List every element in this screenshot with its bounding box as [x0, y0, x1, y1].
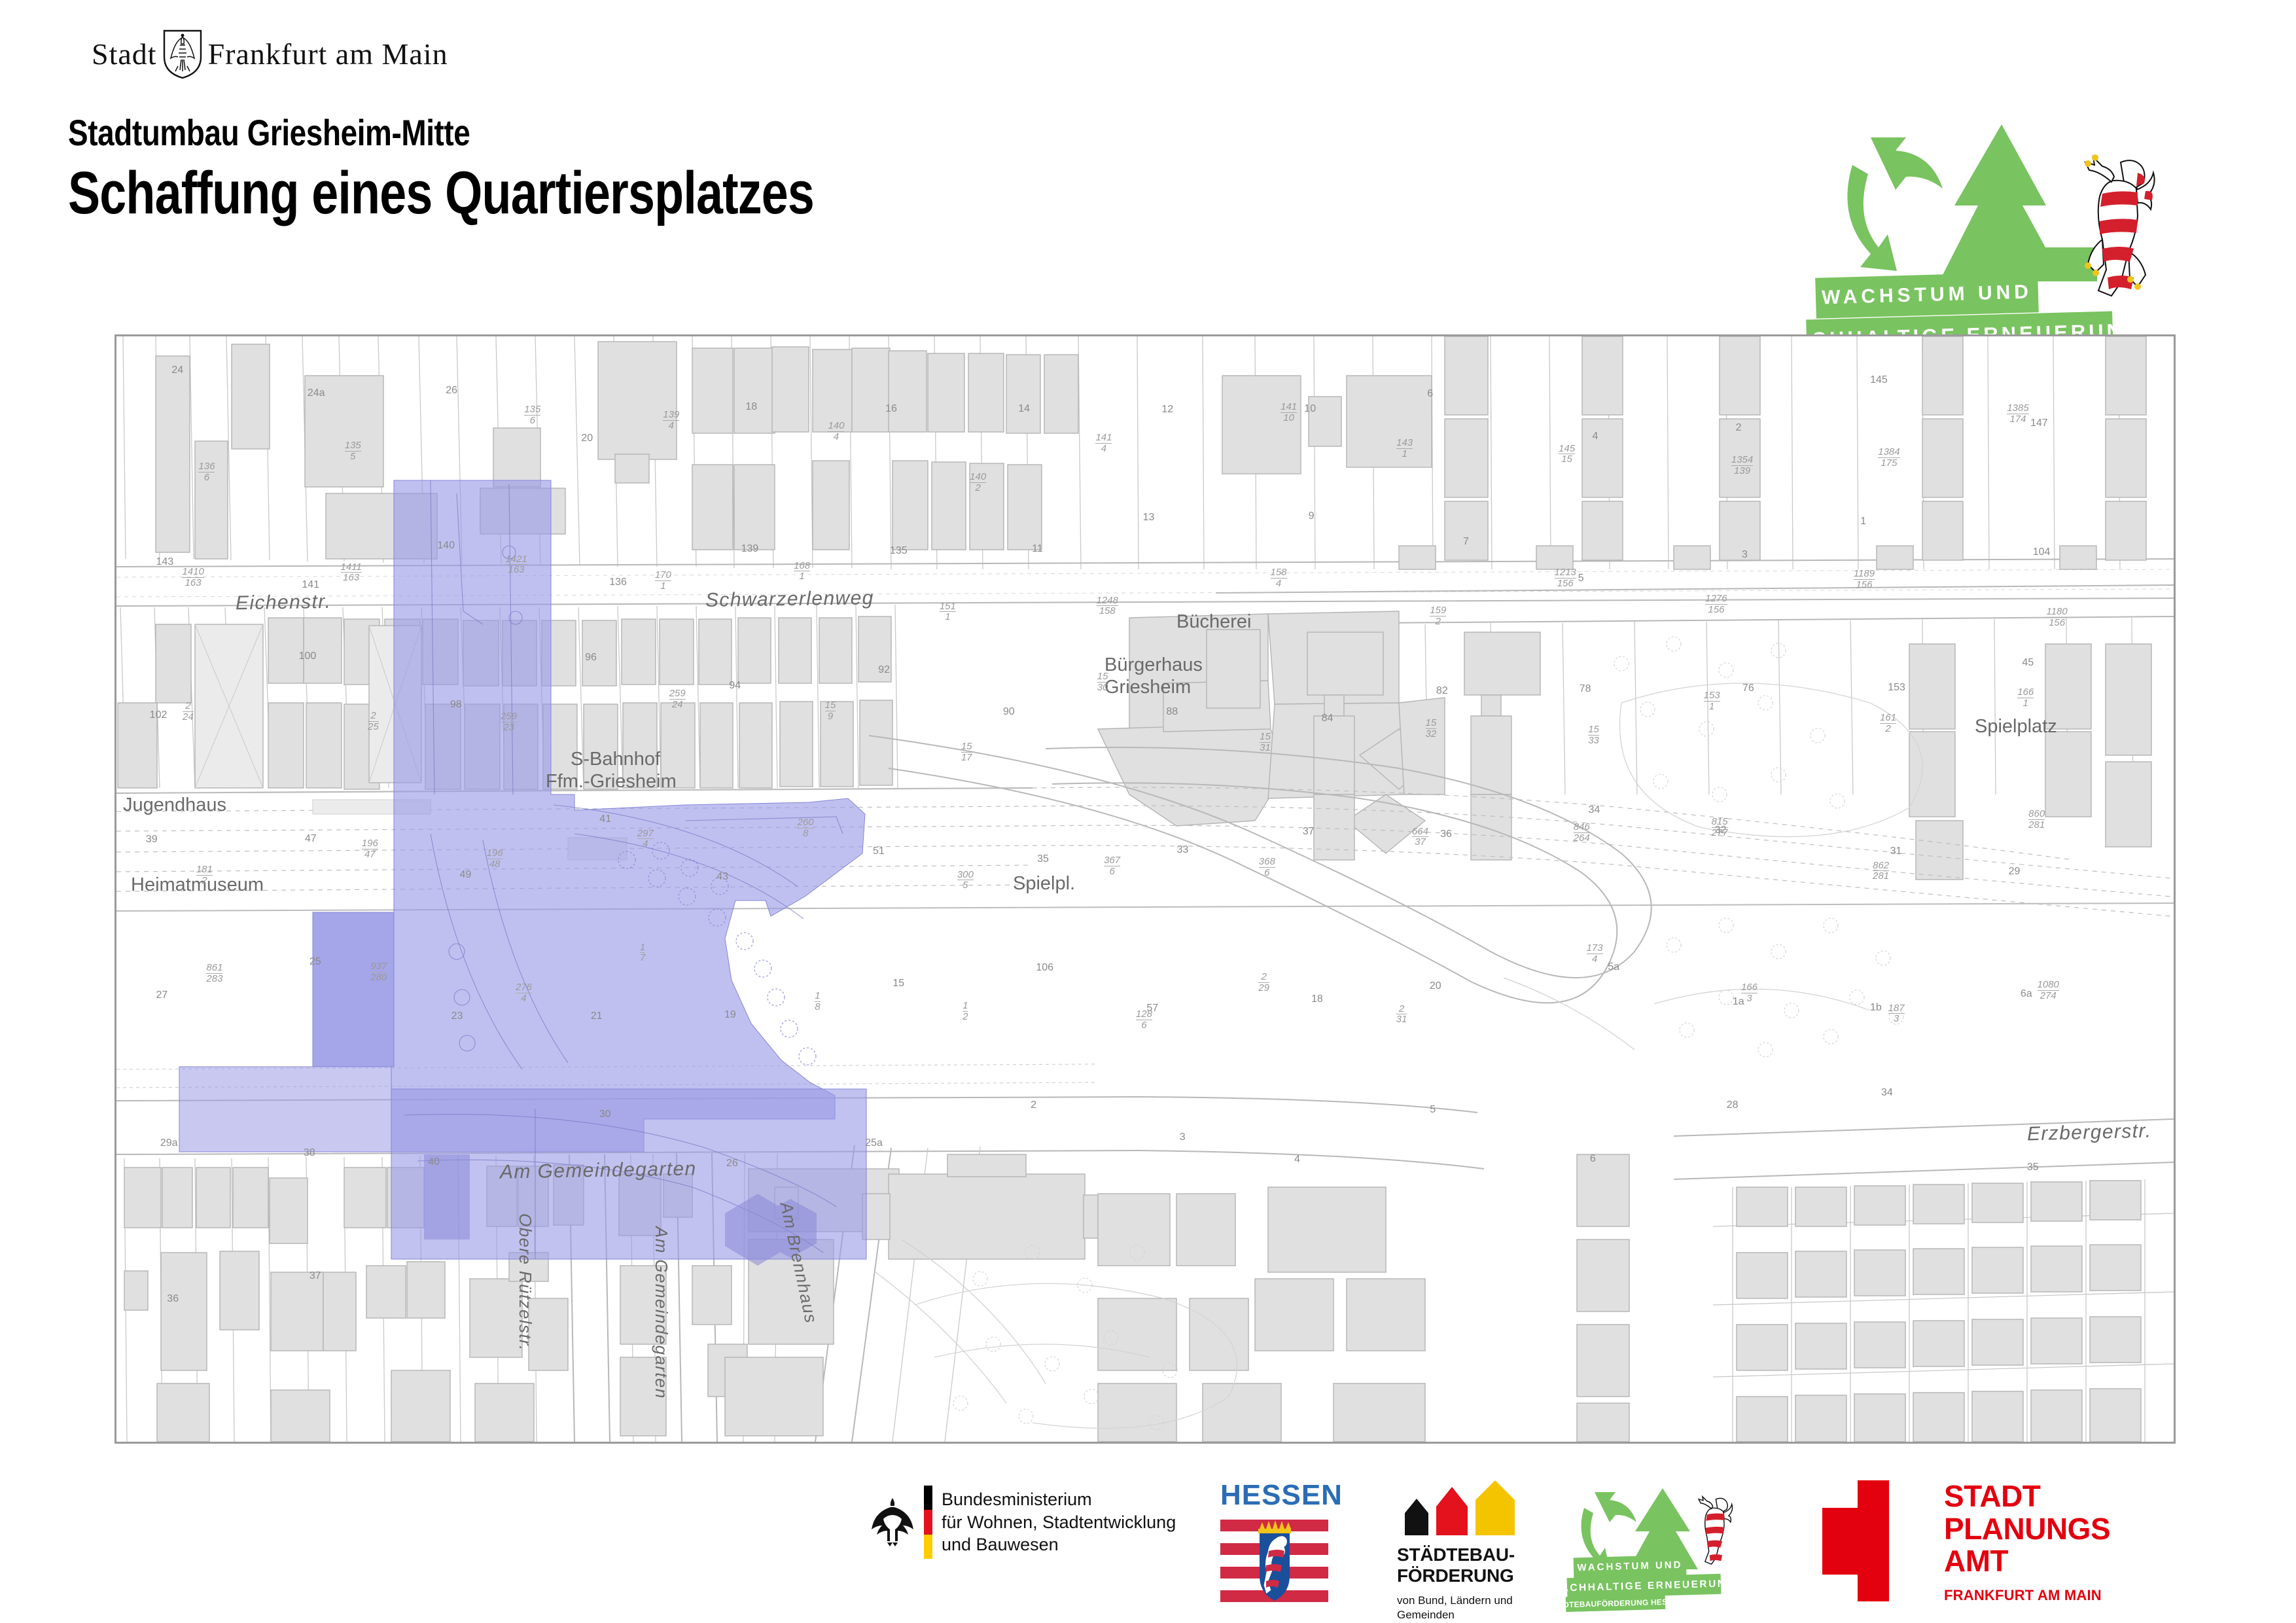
program-logo-small-line3: STÄDTEBAUFÖRDERUNG HESSEN: [1566, 1594, 1666, 1612]
bmwsb-text: Bundesministerium für Wohnen, Stadtentwi…: [942, 1488, 1176, 1556]
stadtplanungsamt-logo: STADT PLANUNGS AMT FRANKFURT AM MAIN: [1822, 1480, 2110, 1604]
staedtebau-sub1: von Bund, Ländern und: [1397, 1594, 1561, 1608]
stadtplanungsamt-text: STADT PLANUNGS AMT FRANKFURT AM MAIN: [1944, 1480, 2110, 1604]
spa-line3: AMT: [1944, 1545, 2110, 1578]
title-block: Stadtumbau Griesheim-Mitte Schaffung ein…: [68, 115, 1000, 223]
stadtplanungsamt-mark-icon: [1822, 1480, 1920, 1601]
map-drawing: [116, 336, 2174, 1442]
bmwsb-line2: für Wohnen, Stadtentwicklung: [942, 1511, 1176, 1534]
hessen-lion-icon: [2074, 153, 2159, 304]
bmwsb-line1: Bundesministerium: [942, 1488, 1176, 1511]
hessen-lion-icon-small: [1693, 1495, 1735, 1568]
city-of-frankfurt-logo: Stadt Frankfurt am Main: [92, 29, 448, 79]
growth-arrow-icon: [1833, 119, 2108, 296]
program-logo-line1: WACHSTUM UND: [1815, 272, 2039, 318]
city-logo-frankfurt: Frankfurt am Main: [208, 39, 448, 69]
staedtebau-sub2: Gemeinden: [1397, 1608, 1561, 1622]
page-title: Schaffung eines Quartiersplatzes: [68, 163, 814, 223]
staedtebaufoerderung-logo: STÄDTEBAU- FÖRDERUNG von Bund, Ländern u…: [1397, 1480, 1561, 1622]
bundesadler-icon: [870, 1494, 915, 1550]
frankfurt-eagle-shield-icon: [162, 29, 203, 79]
bmwsb-logo: Bundesministerium für Wohnen, Stadtentwi…: [870, 1486, 1176, 1559]
three-houses-icon: [1397, 1480, 1561, 1535]
hessen-logo: HESSEN: [1220, 1479, 1332, 1607]
spa-sub: FRANKFURT AM MAIN: [1944, 1587, 2110, 1604]
poster-header: Stadt Frankfurt am Main Stadtumbau Gries…: [0, 0, 2296, 327]
spa-line2: PLANUNGS: [1944, 1513, 2110, 1546]
funding-logos-bar: Bundesministerium für Wohnen, Stadtentwi…: [0, 1472, 2296, 1623]
staedtebau-line2: FÖRDERUNG: [1397, 1565, 1561, 1586]
hessen-coat-of-arms-icon: [1220, 1516, 1328, 1607]
hessen-wordmark: HESSEN: [1220, 1479, 1332, 1512]
cadastral-map[interactable]: Eichenstr. Schwarzerlenweg Erzbergerstr.…: [115, 334, 2176, 1444]
spa-line1: STADT: [1944, 1480, 2110, 1513]
german-flag-bar-icon: [924, 1486, 932, 1559]
bmwsb-line3: und Bauwesen: [942, 1533, 1176, 1556]
staedtebau-line1: STÄDTEBAU-: [1397, 1544, 1561, 1565]
program-logo-small: WACHSTUM UND NACHHALTIGE ERNEUERUNG STÄD…: [1574, 1486, 1770, 1610]
project-subtitle: Stadtumbau Griesheim-Mitte: [68, 115, 833, 151]
city-logo-stadt: Stadt: [92, 39, 157, 69]
